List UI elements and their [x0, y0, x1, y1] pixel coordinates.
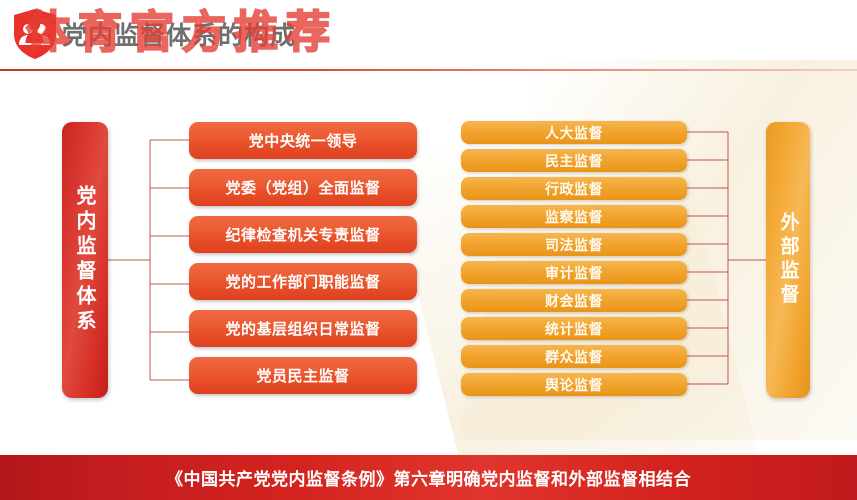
- page-title: 党内监督体系的构成: [62, 16, 296, 52]
- internal-item[interactable]: 党中央统一领导: [189, 122, 417, 159]
- external-item[interactable]: 司法监督: [461, 233, 687, 256]
- internal-item[interactable]: 党的基层组织日常监督: [189, 310, 417, 347]
- internal-item[interactable]: 党的工作部门职能监督: [189, 263, 417, 300]
- footer-banner: 《中国共产党党内监督条例》第六章明确党内监督和外部监督相结合: [0, 455, 857, 500]
- pillar-external-label: 外部监督: [779, 212, 798, 308]
- external-item[interactable]: 民主监督: [461, 149, 687, 172]
- internal-item-label: 党的基层组织日常监督: [225, 318, 380, 339]
- external-item[interactable]: 行政监督: [461, 177, 687, 200]
- internal-item-label: 党中央统一领导: [249, 130, 358, 151]
- header-divider: [0, 69, 857, 71]
- connector-lines: [0, 0, 857, 500]
- pillar-internal-supervision[interactable]: 党内监督体系: [62, 122, 108, 398]
- slide-canvas: 党内监督体系的构成 体育官方推荐: [0, 0, 857, 500]
- internal-item-label: 党委（党组）全面监督: [225, 177, 380, 198]
- external-item-label: 司法监督: [545, 235, 603, 255]
- external-item[interactable]: 财会监督: [461, 289, 687, 312]
- internal-item-label: 党的工作部门职能监督: [225, 271, 380, 292]
- external-item[interactable]: 统计监督: [461, 317, 687, 340]
- external-item-label: 审计监督: [545, 263, 603, 283]
- external-item[interactable]: 监察监督: [461, 205, 687, 228]
- internal-item-label: 党员民主监督: [256, 365, 349, 386]
- external-item-label: 统计监督: [545, 319, 603, 339]
- internal-item[interactable]: 纪律检查机关专责监督: [189, 216, 417, 253]
- external-item-label: 群众监督: [545, 347, 603, 367]
- external-items-column: 人大监督 民主监督 行政监督 监察监督 司法监督 审计监督 财会监督 统计监督 …: [461, 121, 687, 401]
- external-item-label: 人大监督: [545, 123, 603, 143]
- internal-items-column: 党中央统一领导 党委（党组）全面监督 纪律检查机关专责监督 党的工作部门职能监督…: [189, 122, 417, 404]
- external-item[interactable]: 群众监督: [461, 345, 687, 368]
- external-item-label: 舆论监督: [545, 375, 603, 395]
- internal-item[interactable]: 党委（党组）全面监督: [189, 169, 417, 206]
- external-item-label: 财会监督: [545, 291, 603, 311]
- external-item-label: 行政监督: [545, 179, 603, 199]
- shield-people-icon: [12, 8, 58, 60]
- internal-item[interactable]: 党员民主监督: [189, 357, 417, 394]
- external-item-label: 监察监督: [545, 207, 603, 227]
- external-item[interactable]: 审计监督: [461, 261, 687, 284]
- internal-item-label: 纪律检查机关专责监督: [225, 224, 380, 245]
- pillar-internal-label: 党内监督体系: [75, 185, 95, 335]
- external-item[interactable]: 舆论监督: [461, 373, 687, 396]
- slide-header: 党内监督体系的构成: [0, 0, 857, 71]
- external-item[interactable]: 人大监督: [461, 121, 687, 144]
- pillar-external-supervision[interactable]: 外部监督: [766, 122, 810, 398]
- footer-text: 《中国共产党党内监督条例》第六章明确党内监督和外部监督相结合: [166, 465, 691, 490]
- external-item-label: 民主监督: [545, 151, 603, 171]
